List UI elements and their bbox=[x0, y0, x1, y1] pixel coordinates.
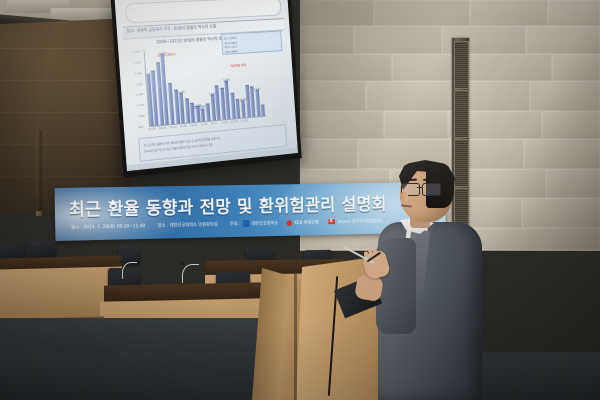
projection-screen: 참고. 세계적 금융위기 이후, 원/달러 환율의 역사적 흐름 2009~20… bbox=[110, 0, 301, 178]
banner-datetime: 일시 : 2014. 1. 28(화) 09:20~11:40 bbox=[71, 223, 145, 231]
sponsor-name: KEB 외환은행 bbox=[294, 219, 319, 225]
banner-place: 장소 : 대한상공회의소 의원회의실 bbox=[158, 221, 218, 228]
screen-glare bbox=[115, 0, 298, 171]
eyeglasses-lens bbox=[422, 183, 441, 196]
sponsor-name: 대한상공회의소 bbox=[251, 220, 278, 226]
keb-logo-icon bbox=[286, 220, 292, 226]
presenter bbox=[368, 160, 493, 400]
gooseneck-microphone bbox=[182, 264, 199, 283]
chamber-logo-icon bbox=[242, 220, 249, 227]
microphone-head bbox=[180, 262, 184, 265]
photo-scene: 참고. 세계적 금융위기 이후, 원/달러 환율의 역사적 흐름 2009~20… bbox=[0, 0, 600, 400]
ksure-logo-icon: K bbox=[328, 219, 335, 224]
presenter-hand bbox=[354, 274, 384, 302]
gooseneck-microphone bbox=[122, 262, 137, 279]
banner-host-label: 주최 : bbox=[230, 221, 241, 227]
slide-surface: 참고. 세계적 금융위기 이후, 원/달러 환율의 역사적 흐름 2009~20… bbox=[115, 0, 298, 171]
presenter-nose bbox=[400, 192, 408, 202]
eyeglasses-bridge bbox=[417, 187, 423, 188]
microphone-head bbox=[120, 260, 124, 263]
chair bbox=[30, 241, 57, 259]
lectern-edge bbox=[294, 253, 297, 400]
wall-shadow bbox=[0, 18, 132, 214]
